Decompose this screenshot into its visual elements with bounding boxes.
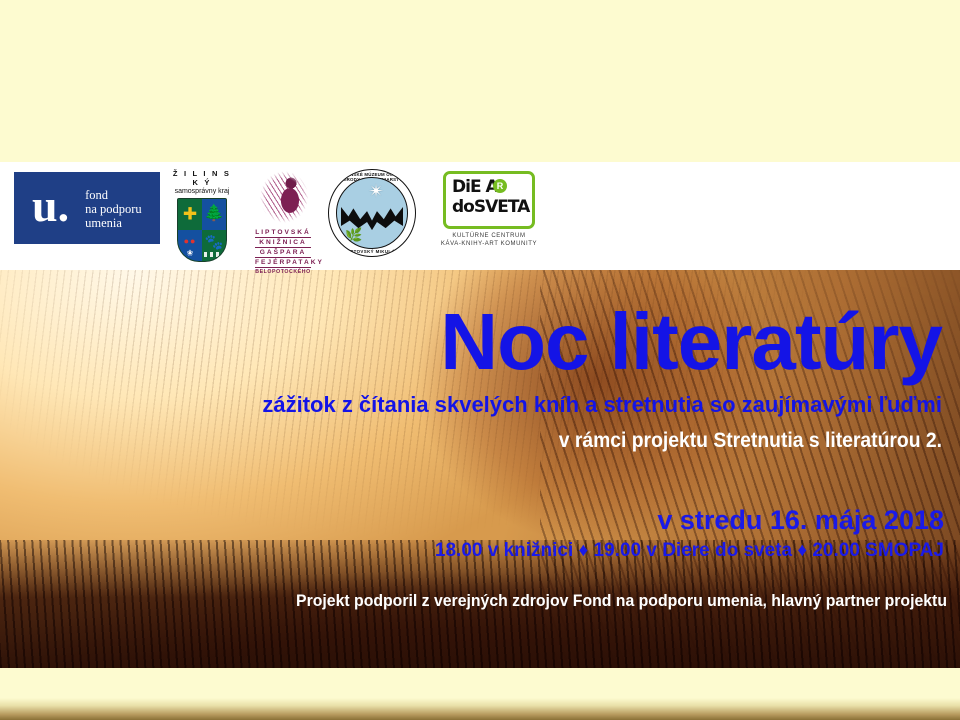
library-wordmark: LIPTOVSKÁ KNIŽNICA GAŠPARA FEJÉRPATAKY B… — [252, 228, 314, 277]
lion-icon: 🐾 — [205, 233, 224, 251]
diera-subtitle: KULTÚRNE CENTRUM KÁVA-KNIHY-ART KOMUNITY — [440, 232, 538, 248]
diera-sub-1: KULTÚRNE CENTRUM — [440, 232, 538, 240]
smopaj-inner-disc: ✴ 🌿 — [336, 177, 408, 249]
tree-icon: 🌲 — [204, 206, 224, 222]
logo-diera-do-sveta: DiE A R doSVETA KULTÚRNE CENTRUM KÁVA-KN… — [440, 168, 538, 256]
edelweiss-flower-icon: ✴ — [368, 181, 384, 204]
bottom-gradient-strip — [0, 698, 960, 720]
library-line-2: KNIŽNICA — [255, 238, 311, 248]
logo-fond-na-podporu-umenia: u. fond na podporu umenia — [14, 172, 160, 244]
coat-of-arms-icon: ✚ 🌲 ●●❀ 🐾 — [177, 198, 227, 262]
library-line-3: GAŠPARA — [255, 248, 311, 258]
logo-smopaj: SLOVENSKÉ MÚZEUM OCHRANY PRÍRODY A JASKY… — [326, 166, 418, 258]
top-color-band — [0, 0, 960, 162]
zsk-line-1: Ž I L I N S K Ý — [170, 169, 234, 187]
poster-title: Noc literatúry — [0, 300, 942, 384]
date-block: v stredu 16. mája 2018 18.00 v knižnici … — [0, 505, 960, 563]
diera-dot-icon: R — [493, 179, 507, 193]
zsk-line-2: samosprávny kraj — [170, 188, 234, 195]
logo-liptovska-kniznica: LIPTOVSKÁ KNIŽNICA GAŠPARA FEJÉRPATAKY B… — [252, 166, 314, 258]
headline-block: Noc literatúry zážitok z čítania skvelýc… — [0, 300, 960, 454]
smopaj-seal: SLOVENSKÉ MÚZEUM OCHRANY PRÍRODY A JASKY… — [328, 169, 416, 257]
fpu-u-mark: u. — [32, 186, 69, 226]
funding-credit: Projekt podporil z verejných zdrojov Fon… — [67, 590, 960, 612]
bottom-color-band — [0, 668, 960, 698]
fpu-line-1: fond — [85, 188, 142, 202]
logo-zilinsky-samospravny-kraj: Ž I L I N S K Ý samosprávny kraj ✚ 🌲 ●●❀… — [170, 166, 234, 258]
diera-line-1: DiE A — [452, 177, 498, 197]
library-line-1: LIPTOVSKÁ — [255, 228, 311, 238]
smopaj-ring-bottom-text: LIPTOVSKÝ MIKULÁŠ — [329, 249, 415, 254]
fpu-line-2: na podporu — [85, 202, 142, 216]
project-frame-line: v rámci projektu Stretnutia s literatúro… — [75, 428, 942, 454]
diera-wordmark-box: DiE A R doSVETA — [443, 171, 535, 229]
diera-line-2: doSVETA — [452, 197, 529, 217]
library-line-4: FEJÉRPATAKY — [255, 258, 311, 268]
diera-sub-2: KÁVA-KNIHY-ART KOMUNITY — [440, 240, 538, 248]
poster-subtitle: zážitok z čítania skvelých kníh a stretn… — [0, 392, 942, 418]
fpu-line-3: umenia — [85, 216, 142, 230]
fpu-wordmark: fond na podporu umenia — [85, 188, 142, 230]
rose-icon: ❀ — [187, 248, 194, 257]
poster: Fond na podporu umenia Žilinský samosprá… — [0, 0, 960, 720]
library-line-5: BELOPOTOCKÉHO — [255, 268, 311, 277]
event-date: v stredu 16. mája 2018 — [0, 505, 944, 535]
logo-row: u. fond na podporu umenia Ž I L I N S K … — [0, 162, 960, 270]
grass-icon: 🌿 — [345, 227, 362, 244]
event-times: 18.00 v knižnici ♦ 19.00 v Diere do svet… — [0, 539, 944, 563]
portrait-illustration-icon — [254, 168, 312, 226]
roses-icon: ●● — [184, 236, 197, 246]
cross-icon: ✚ — [183, 207, 197, 224]
wave-icon — [204, 252, 224, 257]
